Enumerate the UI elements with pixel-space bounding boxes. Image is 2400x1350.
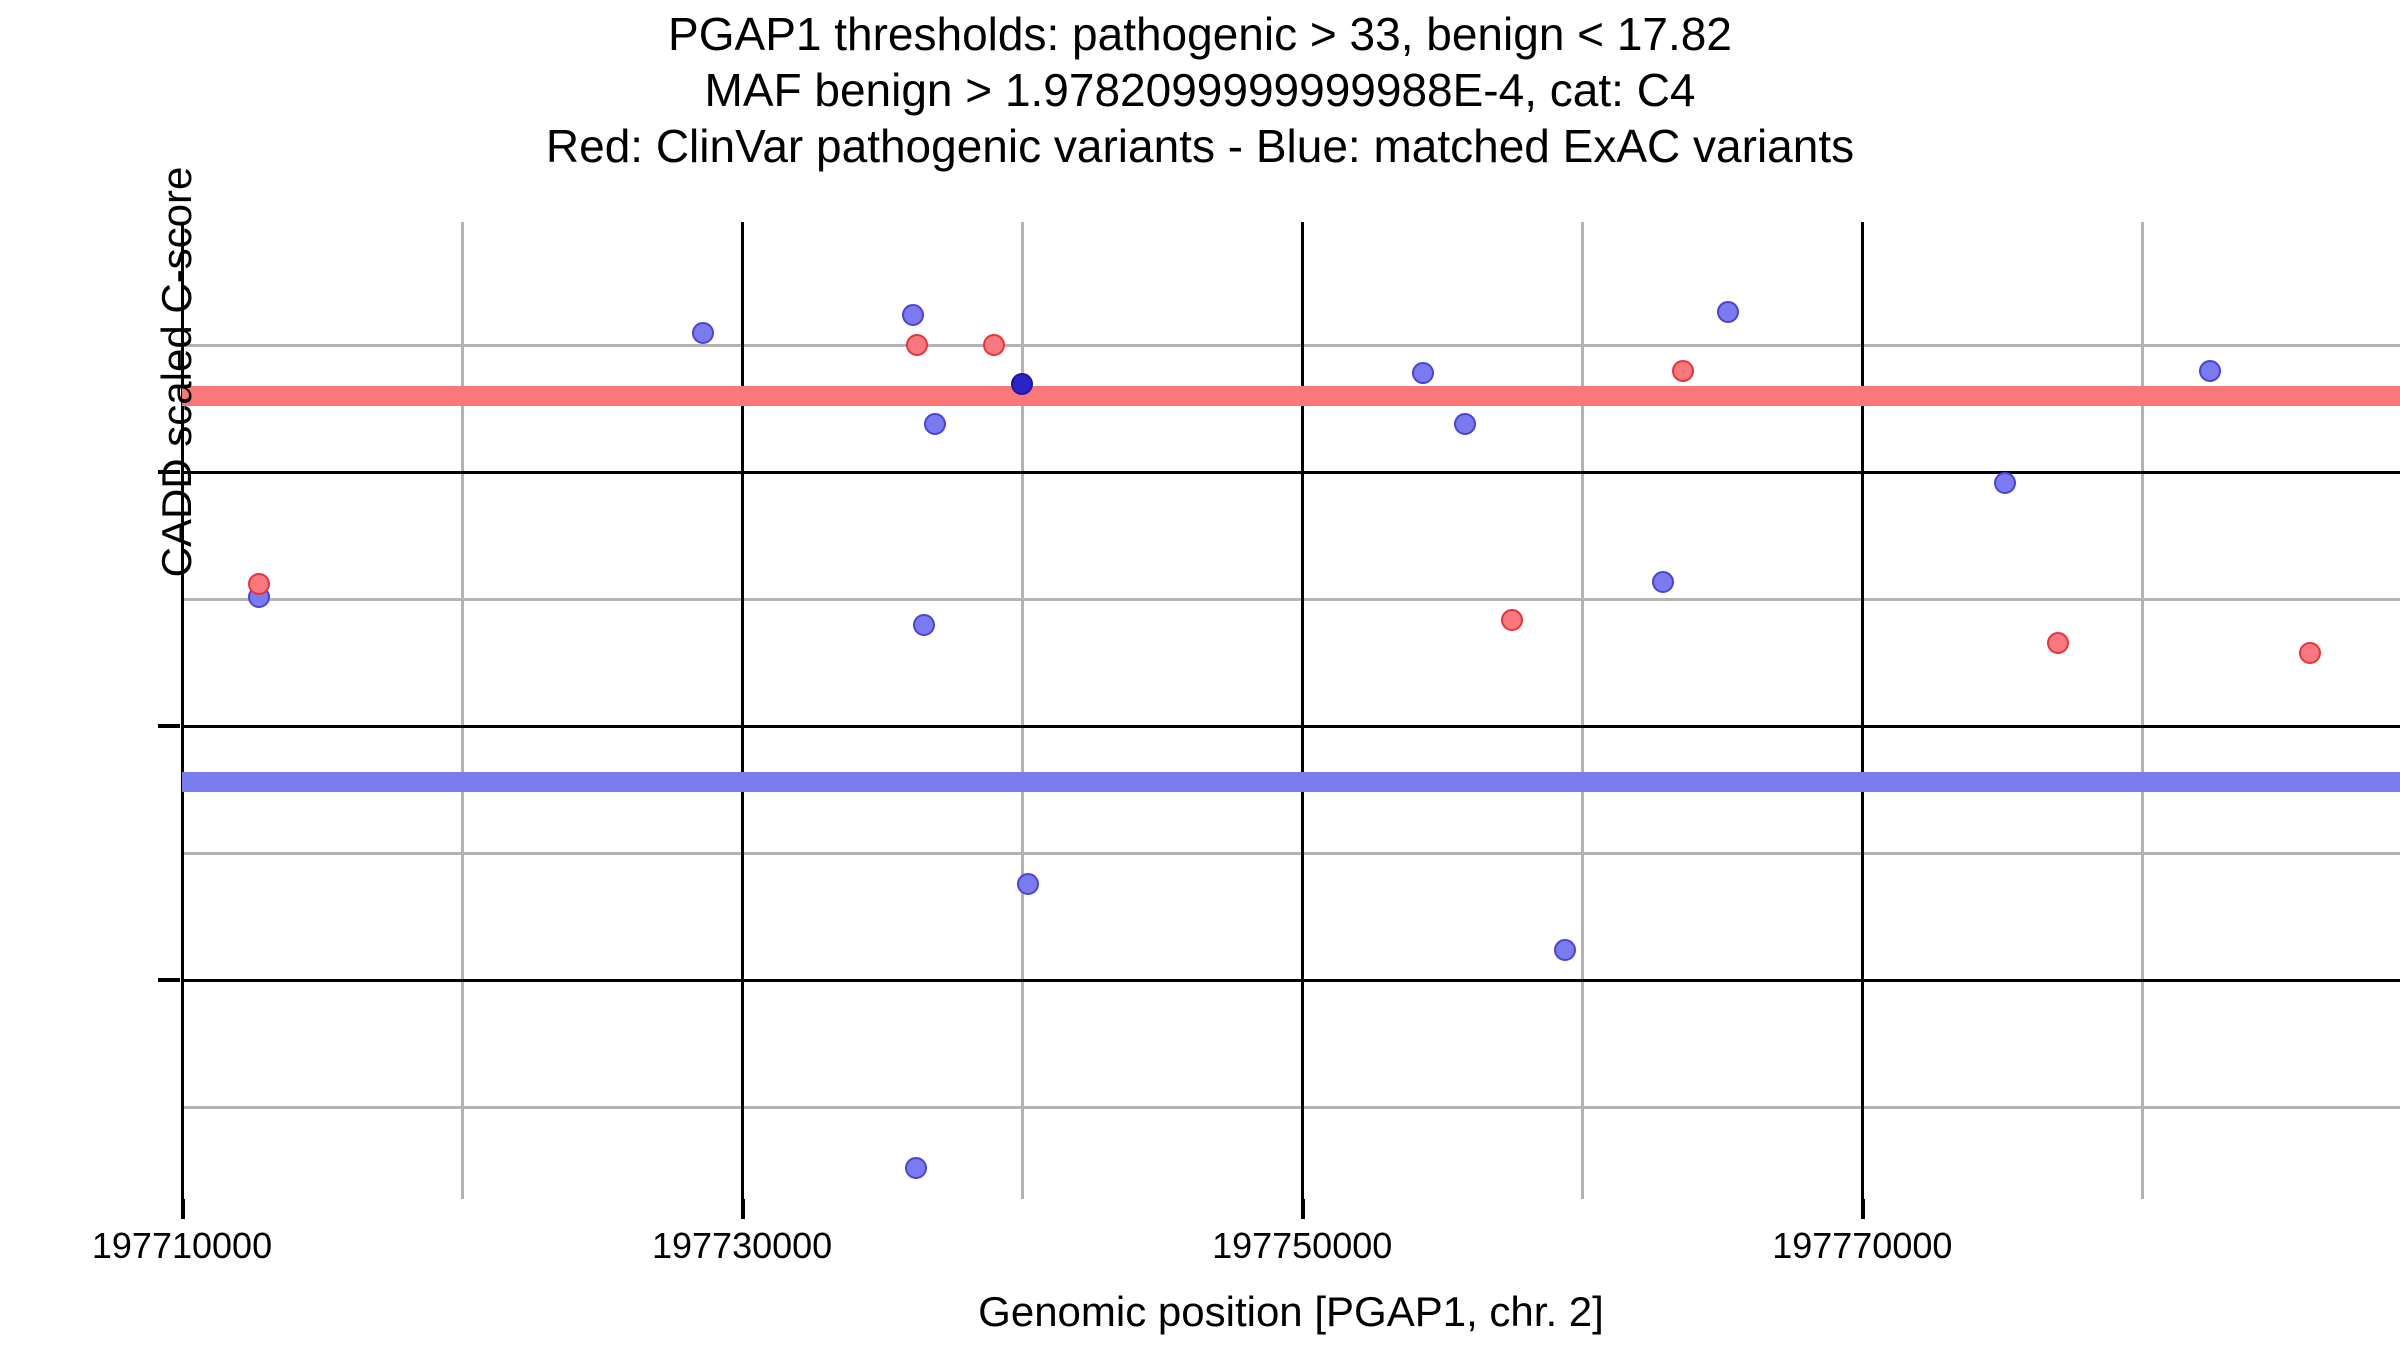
plot-area: 1977100001977300001977500001977700003020… <box>182 222 2400 1199</box>
gridline-x-minor <box>1581 222 1584 1199</box>
gridline-y-minor <box>182 852 2400 855</box>
y-axis-label: CADD scaled C-score <box>156 22 198 722</box>
title-line-2: MAF benign > 1.9782099999999988E-4, cat:… <box>0 62 2400 118</box>
x-tick <box>1861 1199 1865 1219</box>
data-point-benign <box>902 304 924 326</box>
data-point-benign <box>924 413 946 435</box>
data-point-benign <box>1017 873 1039 895</box>
data-point-pathogenic <box>248 573 270 595</box>
data-point-benign <box>1011 373 1033 395</box>
y-tick <box>158 724 180 728</box>
x-tick-label: 197770000 <box>1702 1226 2022 1266</box>
gridline-x-major <box>1861 222 1864 1199</box>
y-tick <box>158 978 180 982</box>
data-point-benign <box>692 322 714 344</box>
chart-page: PGAP1 thresholds: pathogenic > 33, benig… <box>0 0 2400 1350</box>
gridline-y-major <box>182 979 2400 982</box>
gridline-y-minor <box>182 1106 2400 1109</box>
gridline-x-major <box>1301 222 1304 1199</box>
title-line-3: Red: ClinVar pathogenic variants - Blue:… <box>0 118 2400 174</box>
x-tick-label: 197710000 <box>22 1226 342 1266</box>
data-point-pathogenic <box>1672 360 1694 382</box>
gridline-y-major <box>182 471 2400 474</box>
data-point-pathogenic <box>1501 609 1523 631</box>
gridline-x-minor <box>1021 222 1024 1199</box>
gridline-x-minor <box>2141 222 2144 1199</box>
data-point-benign <box>913 614 935 636</box>
data-point-benign <box>1994 472 2016 494</box>
x-axis-label: Genomic position [PGAP1, chr. 2] <box>182 1290 2400 1334</box>
data-point-benign <box>1652 571 1674 593</box>
data-point-benign <box>2199 360 2221 382</box>
gridline-x-minor <box>461 222 464 1199</box>
data-point-benign <box>1717 301 1739 323</box>
data-point-pathogenic <box>2299 642 2321 664</box>
threshold-band-benign <box>182 772 2400 792</box>
chart-title: PGAP1 thresholds: pathogenic > 33, benig… <box>0 6 2400 174</box>
gridline-y-minor <box>182 344 2400 347</box>
x-tick <box>741 1199 745 1219</box>
gridline-y-minor <box>182 598 2400 601</box>
gridline-y-major <box>182 725 2400 728</box>
x-tick-label: 197750000 <box>1142 1226 1462 1266</box>
x-tick <box>181 1199 185 1219</box>
x-tick-label: 197730000 <box>582 1226 902 1266</box>
gridline-x-major <box>741 222 744 1199</box>
data-point-benign <box>905 1157 927 1179</box>
title-line-1: PGAP1 thresholds: pathogenic > 33, benig… <box>0 6 2400 62</box>
data-point-benign <box>1412 362 1434 384</box>
data-point-pathogenic <box>2047 632 2069 654</box>
data-point-benign <box>1454 413 1476 435</box>
threshold-band-pathogenic <box>182 386 2400 406</box>
data-point-benign <box>1554 939 1576 961</box>
data-point-pathogenic <box>906 334 928 356</box>
data-point-pathogenic <box>983 334 1005 356</box>
x-tick <box>1301 1199 1305 1219</box>
